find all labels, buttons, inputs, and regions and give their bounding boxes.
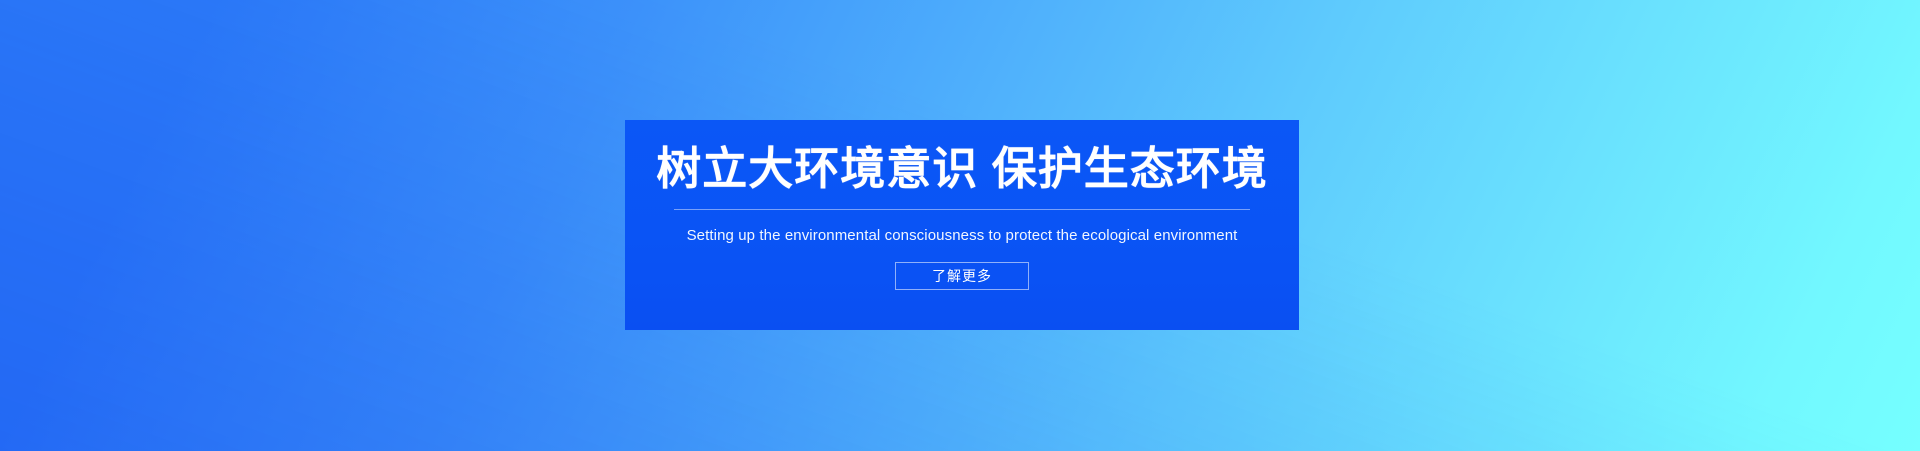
hero-card: 树立大环境意识 保护生态环境 Setting up the environmen…	[625, 120, 1299, 330]
hero-subtitle: Setting up the environmental consciousne…	[687, 227, 1238, 245]
title-divider	[674, 209, 1250, 210]
learn-more-button[interactable]: 了解更多	[895, 262, 1029, 290]
page-title: 树立大环境意识 保护生态环境	[656, 146, 1268, 191]
hero-banner: 树立大环境意识 保护生态环境 Setting up the environmen…	[0, 0, 1920, 451]
